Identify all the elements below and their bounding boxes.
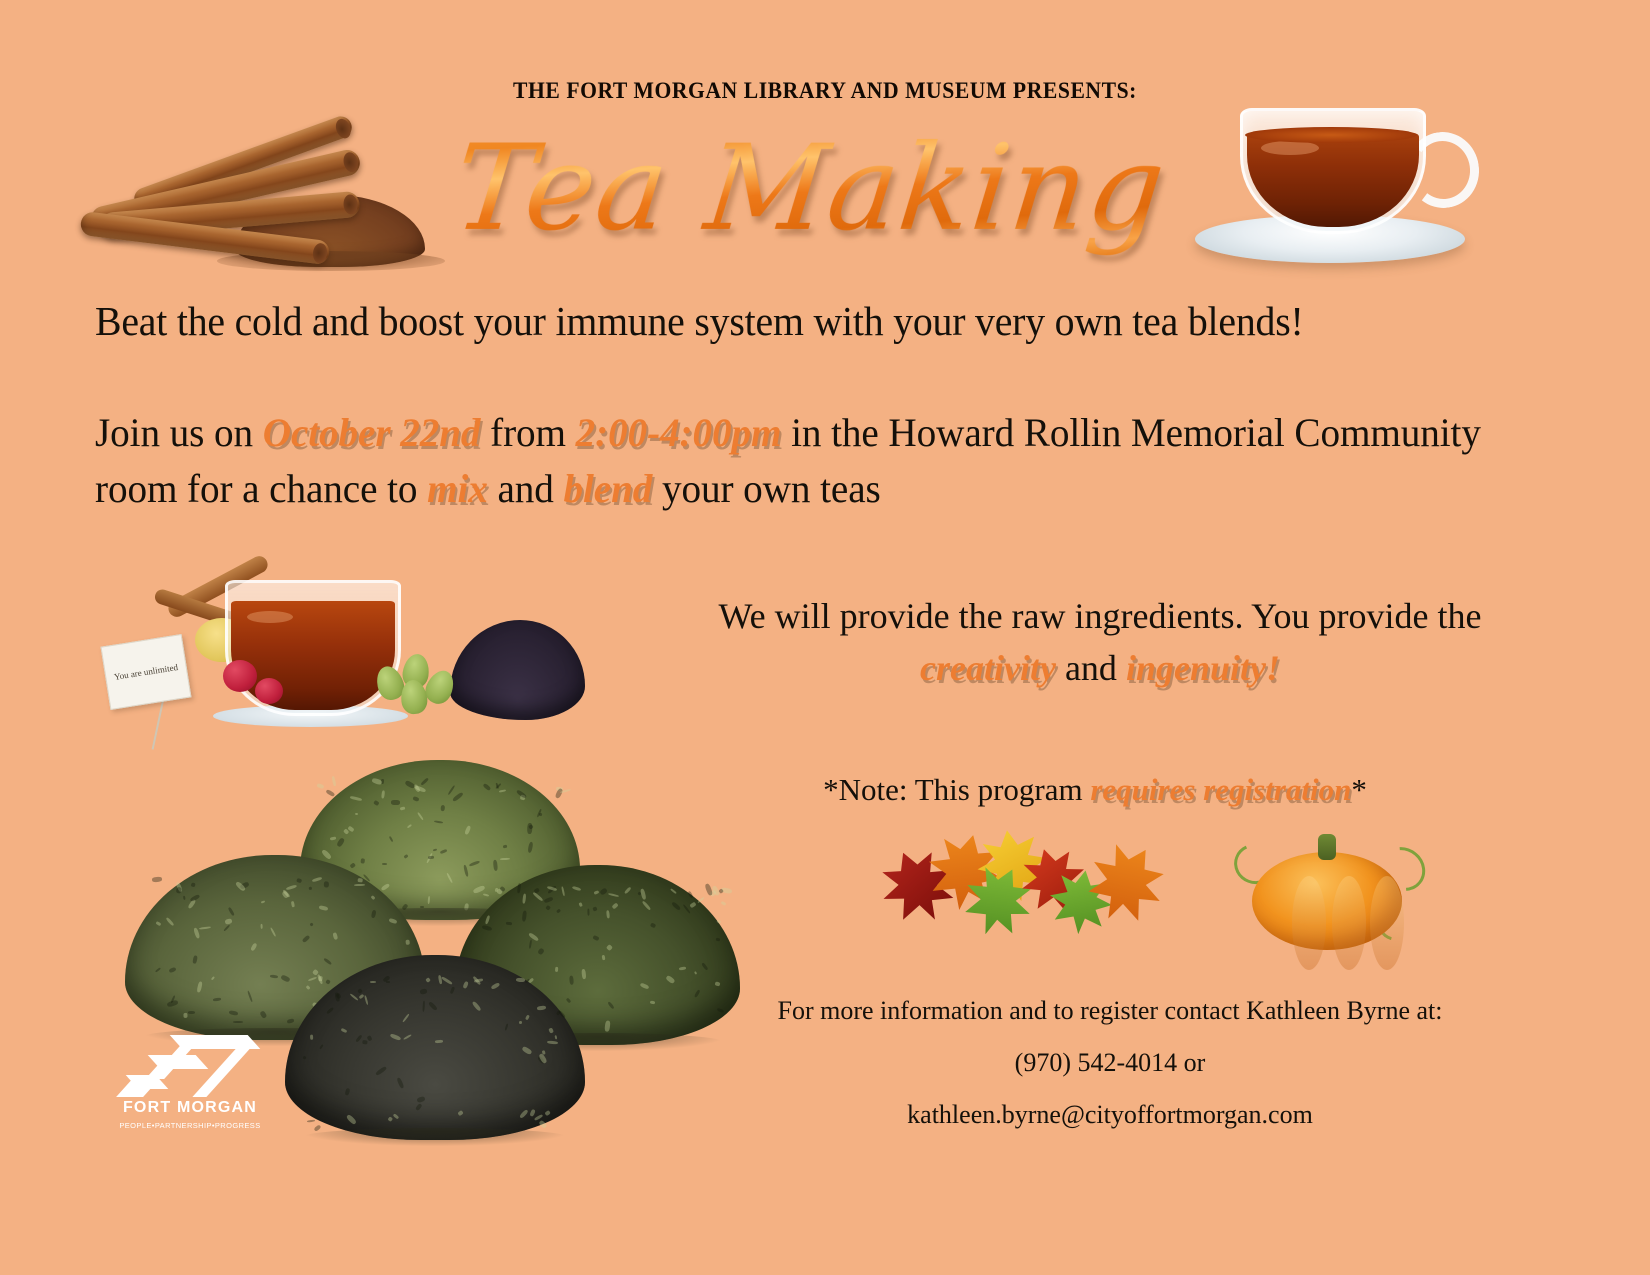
logo-name: FORT MORGAN — [110, 1099, 270, 1117]
teacup-image — [1185, 80, 1475, 270]
tea-bag-string — [152, 698, 165, 749]
lead-paragraph: Beat the cold and boost your immune syst… — [95, 296, 1521, 346]
registration-note: *Note: This program requires registratio… — [700, 770, 1490, 810]
note-text-1: *Note: This program — [823, 772, 1090, 807]
provide-text-1: We will provide the raw ingredients. You… — [719, 596, 1482, 636]
cup-body — [1240, 108, 1426, 234]
contact-block: For more information and to register con… — [700, 985, 1520, 1141]
provide-paragraph: We will provide the raw ingredients. You… — [715, 590, 1485, 694]
pumpkin-image — [1230, 830, 1425, 955]
chevron-icon — [118, 1035, 258, 1097]
presents-line: THE FORT MORGAN LIBRARY AND MUSEUM PRESE… — [50, 78, 1601, 104]
creativity-word: creativity — [920, 648, 1056, 688]
provide-text-2: and — [1056, 648, 1126, 688]
page-title: Tea Making — [423, 118, 1198, 258]
contact-email[interactable]: kathleen.byrne@cityoffortmorgan.com — [700, 1089, 1520, 1141]
flyer-page: You are unlimited THE FORT MORGAN LIBRAR… — [0, 0, 1650, 1275]
loose-leaf-heap — [450, 620, 585, 720]
join-text-2: from — [480, 410, 575, 455]
autumn-leaves-image — [880, 830, 1180, 950]
join-text-1: Join us on — [95, 410, 263, 455]
logo-tagline: PEOPLE•PARTNERSHIP•PROGRESS — [110, 1121, 270, 1130]
tea-surface — [1245, 127, 1417, 143]
event-date: October 22nd — [263, 410, 481, 455]
title-block: Tea Making — [430, 118, 1190, 268]
fort-morgan-logo: FORT MORGAN PEOPLE•PARTNERSHIP•PROGRESS — [110, 1035, 270, 1143]
cinnamon-sticks-image — [70, 100, 430, 280]
pumpkin-stem — [1318, 834, 1336, 860]
event-details-paragraph: Join us on October 22nd from 2:00-4:00pm… — [95, 405, 1487, 517]
pumpkin-body — [1252, 852, 1402, 950]
join-text-4: and — [488, 466, 564, 511]
join-text-5: your own teas — [652, 466, 880, 511]
contact-phone[interactable]: (970) 542-4014 or — [700, 1037, 1520, 1089]
event-time: 2:00-4:00pm — [576, 410, 782, 455]
raspberry — [223, 660, 257, 692]
contact-line-1: For more information and to register con… — [700, 985, 1520, 1037]
ingenuity-word: ingenuity! — [1126, 648, 1280, 688]
tea-bag-tag: You are unlimited — [100, 634, 191, 710]
blend-word: blend — [564, 466, 653, 511]
tea-liquid — [1247, 133, 1419, 227]
raspberry — [255, 678, 283, 704]
note-text-2: * — [1351, 772, 1367, 807]
requires-registration-text: requires registration — [1090, 772, 1351, 807]
tea-glass-image: You are unlimited — [105, 540, 555, 755]
tea-bag-tag-text: You are unlimited — [113, 661, 179, 683]
cardamom-pods — [375, 650, 465, 710]
mix-word: mix — [427, 466, 488, 511]
